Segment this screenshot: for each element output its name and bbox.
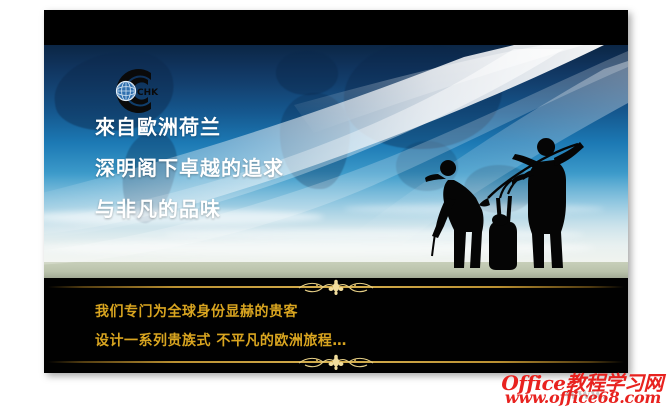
golfer-silhouette-group: [418, 128, 628, 278]
golf-putter-icon: [432, 234, 435, 256]
golfer-silhouettes: [418, 128, 628, 278]
golfer-bending-icon: [425, 160, 484, 268]
watermark-url: www.office68.com: [505, 388, 661, 407]
golf-bag-icon: [489, 196, 517, 270]
headline-line-3: 与非凡的品味: [95, 199, 284, 219]
slide-headline: 來自歐洲荷兰 深明阁下卓越的追求 与非凡的品味: [95, 117, 284, 219]
headline-line-2: 深明阁下卓越的追求: [95, 158, 284, 178]
ornament-flourish-bottom: [291, 351, 381, 373]
flourish-icon: [291, 351, 381, 373]
flourish-icon: [291, 276, 381, 298]
caption-line-2: 设计一系列贵族式 不平凡的欧洲旅程…: [95, 334, 347, 348]
club-head-icon: [479, 198, 490, 207]
slide-caption: 我们专门为全球身份显赫的贵客 设计一系列贵族式 不平凡的欧洲旅程…: [95, 305, 347, 348]
headline-line-1: 來自歐洲荷兰: [95, 117, 284, 137]
ornament-flourish-top: [291, 276, 381, 302]
logo-letters: CHK: [137, 88, 159, 98]
caption-line-1: 我们专门为全球身份显赫的贵客: [95, 305, 347, 319]
world-map-continent-europe: [276, 51, 338, 95]
chk-logo: CHK: [99, 65, 165, 117]
site-watermark: www. Office教程学习网 www.office68.com: [490, 366, 665, 408]
chk-globe-emblem-icon: CHK: [99, 65, 165, 117]
slide-top-black-band: [44, 10, 628, 45]
presentation-slide: CHK 來自歐洲荷兰 深明阁下卓越的追求 与非凡的品味 我们专门为全球身份显赫的…: [44, 10, 628, 373]
